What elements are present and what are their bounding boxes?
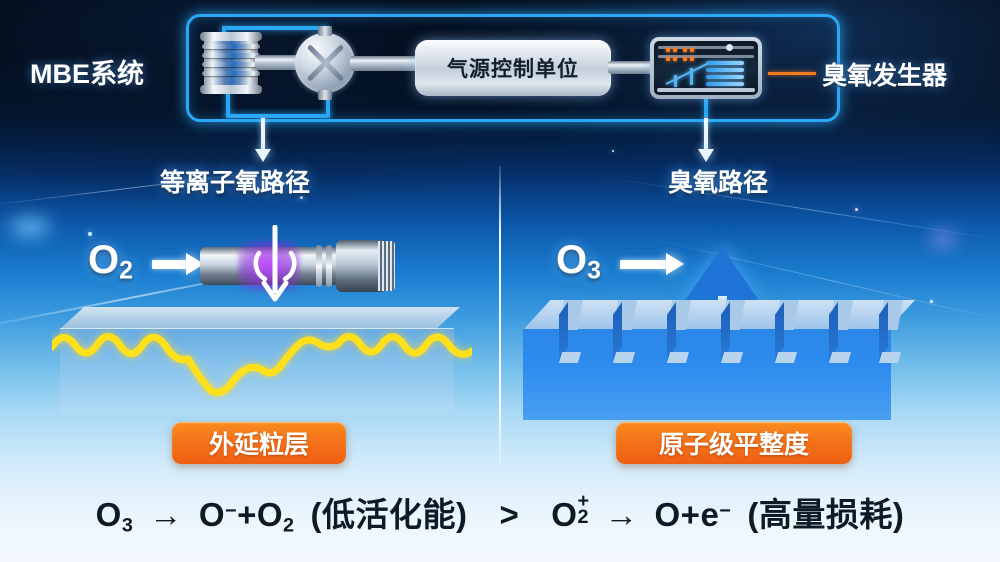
formula-right-reactant: O [551, 496, 577, 533]
formula-left-product-b-sub: 2 [283, 515, 295, 537]
o3-flow-arrow-head [666, 253, 684, 275]
plasma-path-arrow [255, 118, 271, 162]
pipe-valve-to-control-unit [350, 56, 422, 71]
pipe-generator-drop [704, 96, 708, 118]
plasma-discharge-glyph [252, 225, 298, 309]
background-glow-left [10, 218, 50, 236]
vacuum-pump-icon [200, 30, 262, 96]
formula-right-product-b: e [700, 496, 719, 533]
substrate-groove [775, 300, 799, 362]
background-particle-5 [612, 150, 614, 152]
o3-symbol: O [556, 238, 587, 282]
o3-subscript: 3 [587, 257, 601, 284]
gas-source-control-unit[interactable]: 气源控制单位 [415, 40, 611, 96]
control-unit-label: 气源控制单位 [447, 53, 579, 83]
substrate-groove [667, 300, 691, 362]
substrate-groove [559, 300, 583, 362]
o3-gas-label: O3 [556, 238, 601, 285]
section-divider [499, 166, 501, 466]
formula-left-product-a-sup: − [225, 500, 237, 522]
reaction-formula: O3→O−+O2(低活化能)>O2+2→O+e−(高量损耗) [0, 488, 1000, 538]
epitaxial-grain-layer-badge: 外延粒层 [172, 422, 346, 464]
o3-flow-arrow-shaft [620, 260, 668, 269]
substrate-groove [613, 300, 637, 362]
substrate-groove [879, 300, 903, 362]
formula-left-note: (低活化能) [311, 496, 468, 533]
plasma-path-label: 等离子氧路径 [160, 163, 310, 199]
formula-left-reactant: O [96, 496, 122, 533]
pipe-bottom-bridge [226, 114, 330, 118]
formula-left-product-b: O [257, 496, 283, 533]
pipe-control-unit-to-generator [608, 61, 656, 74]
background-particle-3 [855, 208, 858, 211]
plasma-source-icon [200, 235, 396, 295]
o2-subscript: 2 [119, 257, 133, 284]
formula-arrow-1: → [149, 496, 183, 533]
diagram-canvas: MBE系统 气源控制单位 [0, 0, 1000, 562]
o2-gas-label: O2 [88, 238, 133, 285]
formula-arrow-2: → [605, 496, 639, 533]
o2-flow-arrow-shaft [152, 260, 188, 269]
ozone-generator-device[interactable] [650, 37, 762, 99]
background-particle-4 [930, 300, 933, 303]
atomically-flat-substrate [523, 300, 915, 420]
ozone-path-label: 臭氧路径 [668, 163, 768, 199]
formula-right-reactant-affixes: 2+2 [577, 496, 589, 534]
substrate-groove [721, 300, 745, 362]
formula-plus-1: + [237, 496, 257, 533]
background-particle-1 [88, 232, 92, 236]
formula-right-product-a: O [654, 496, 680, 533]
rough-surface-waveform [52, 315, 472, 401]
mbe-system-title: MBE系统 [30, 52, 144, 91]
formula-plus-2: + [681, 496, 701, 533]
background-glow-right [930, 232, 956, 246]
formula-right-note: (高量损耗) [747, 496, 904, 533]
ozone-injector-triangle [684, 247, 760, 302]
ozone-generator-label: 臭氧发生器 [822, 56, 947, 92]
ozone-path-arrow [698, 118, 714, 162]
formula-right-product-b-sup: − [719, 500, 731, 522]
atomic-flatness-badge: 原子级平整度 [616, 422, 852, 464]
background-streak-2 [600, 176, 1000, 243]
formula-left-reactant-sub: 3 [122, 515, 134, 537]
formula-left-product-a: O [199, 496, 225, 533]
cross-valve-icon [295, 33, 355, 93]
o2-symbol: O [88, 238, 119, 282]
substrate-groove [829, 300, 853, 362]
formula-right-reactant-sup: + [577, 490, 589, 513]
ozone-generator-leader-line [768, 72, 816, 75]
formula-comparator: > [500, 496, 520, 533]
